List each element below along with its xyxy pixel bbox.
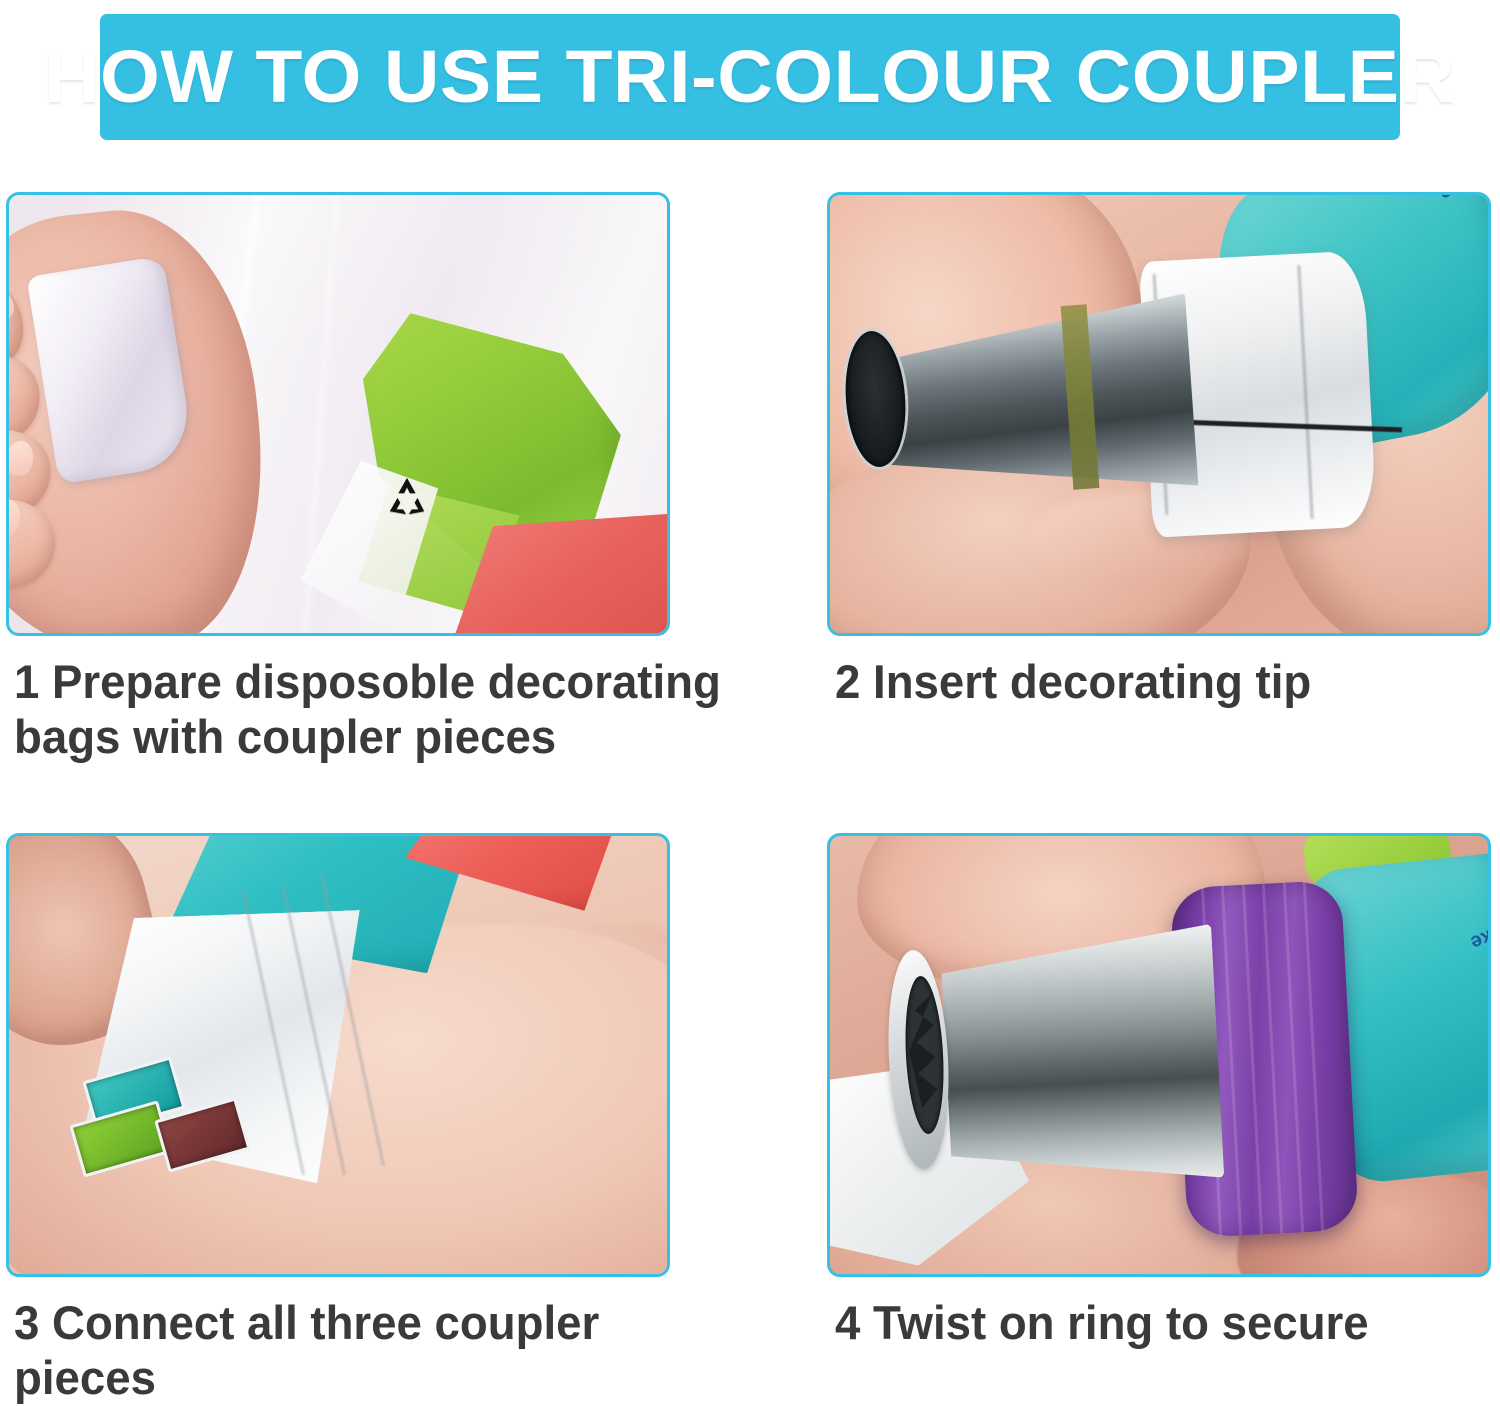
step-2: Cake 2 Insert decorating tip xyxy=(827,192,1491,636)
step-2-caption: 2 Insert decorating tip xyxy=(835,654,1500,709)
step-3: 3 Connect all three coupler pieces xyxy=(6,833,670,1277)
page-title: HOW TO USE TRI-COLOUR COUPLER xyxy=(44,40,1456,114)
bag-brand-text: Cake xyxy=(1416,192,1491,212)
title-banner: HOW TO USE TRI-COLOUR COUPLER xyxy=(100,14,1400,140)
step-4-caption: 4 Twist on ring to secure xyxy=(835,1295,1500,1350)
bag-brand-text: Cake xyxy=(1466,915,1491,955)
ring-groove-6 xyxy=(1303,882,1324,1232)
step-3-caption: 3 Connect all three coupler pieces xyxy=(14,1295,693,1406)
step-4: Cake 4 Twist on ring to secure xyxy=(827,833,1491,1277)
step-2-photo: Cake xyxy=(827,192,1491,636)
ring-groove-5 xyxy=(1282,883,1303,1233)
step-1: 1 Prepare disposoble decorating bags wit… xyxy=(6,192,670,636)
recycle-icon xyxy=(384,475,430,517)
ring-groove-3 xyxy=(1241,885,1262,1235)
step-1-caption: 1 Prepare disposoble decorating bags wit… xyxy=(14,654,732,765)
step-4-photo: Cake xyxy=(827,833,1491,1277)
step-1-photo xyxy=(6,192,670,636)
ring-groove-2 xyxy=(1221,886,1242,1236)
step-3-photo xyxy=(6,833,670,1277)
ring-groove-4 xyxy=(1262,884,1283,1234)
